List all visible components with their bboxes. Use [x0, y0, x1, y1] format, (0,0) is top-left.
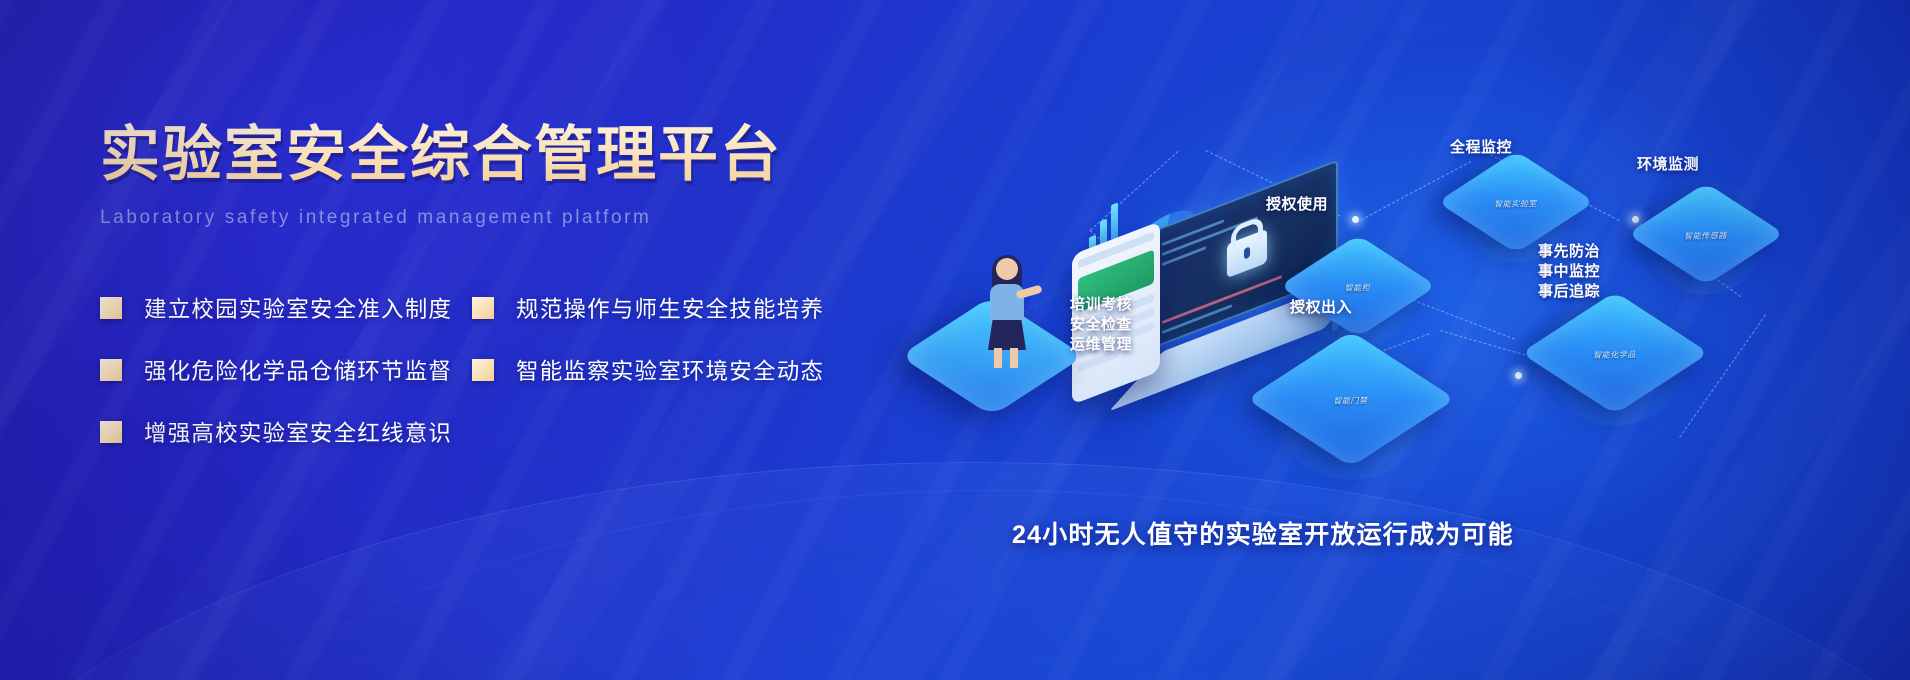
label-authorized-use: 授权使用 — [1266, 195, 1328, 216]
avatar-head — [996, 258, 1018, 280]
list-item: 智能监察实验室环境安全动态 — [472, 339, 824, 401]
list-item-label: 增强高校实验室安全红线意识 — [144, 416, 452, 448]
left-content: 实验室安全综合管理平台 Laboratory safety integrated… — [100, 120, 920, 463]
label-prevention-line1: 事先防治 — [1538, 242, 1600, 263]
tile-caption: 智能门禁 — [1333, 396, 1370, 408]
list-item: 规范操作与师生安全技能培养 — [472, 277, 824, 339]
list-item: 增强高校实验室安全红线意识 — [100, 401, 472, 463]
label-training-line3: 运维管理 — [1070, 335, 1132, 356]
connector-node-dot — [1632, 216, 1639, 223]
lock-icon — [1227, 229, 1267, 278]
list-item-label: 强化危险化学品仓储环节监督 — [144, 354, 452, 386]
bullet-square-icon — [100, 359, 122, 381]
connector-line — [1679, 314, 1766, 437]
feature-list: 建立校园实验室安全准入制度 规范操作与师生安全技能培养 强化危险化学品仓储环节监… — [100, 277, 900, 463]
node-tile-full-monitoring: 智能实验室 — [1470, 156, 1562, 248]
avatar-skirt — [988, 320, 1026, 350]
connector-node-dot — [1515, 372, 1522, 379]
page-subtitle: Laboratory safety integrated management … — [100, 207, 920, 229]
node-tile-authorized-access: 智能门禁 — [1290, 338, 1412, 460]
bullet-square-icon — [100, 297, 122, 319]
list-item-label: 智能监察实验室环境安全动态 — [516, 354, 824, 386]
tile-caption: 智能传感器 — [1683, 230, 1728, 242]
person-avatar — [982, 258, 1036, 366]
banner-root: 实验室安全综合管理平台 Laboratory safety integrated… — [0, 0, 1910, 680]
bottom-tagline: 24小时无人值守的实验室开放运行成为可能 — [1012, 515, 1514, 551]
bullet-square-icon — [472, 297, 494, 319]
label-training-line2: 安全检查 — [1070, 315, 1132, 336]
feature-row: 增强高校实验室安全红线意识 — [100, 401, 900, 463]
feature-row: 强化危险化学品仓储环节监督 智能监察实验室环境安全动态 — [100, 339, 900, 401]
bullet-square-icon — [100, 421, 122, 443]
list-item: 强化危险化学品仓储环节监督 — [100, 339, 472, 401]
connector-node-dot — [1352, 216, 1359, 223]
tile-caption: 智能柜 — [1344, 282, 1372, 293]
tile-caption: 智能实验室 — [1493, 198, 1538, 210]
list-item: 建立校园实验室安全准入制度 — [100, 277, 472, 339]
label-prevention-line2: 事中监控 — [1538, 262, 1600, 283]
node-tile-environment-monitoring: 智能传感器 — [1660, 188, 1752, 280]
label-full-monitoring: 全程监控 — [1450, 138, 1512, 159]
node-tile-prevention: 智能化学品 — [1560, 298, 1670, 408]
page-title: 实验室安全综合管理平台 — [100, 120, 920, 189]
bullet-square-icon — [472, 359, 494, 381]
label-prevention-line3: 事后追踪 — [1538, 282, 1600, 303]
list-item-label: 规范操作与师生安全技能培养 — [516, 292, 824, 324]
feature-row: 建立校园实验室安全准入制度 规范操作与师生安全技能培养 — [100, 277, 900, 339]
label-environment-monitoring: 环境监测 — [1637, 155, 1699, 176]
list-item-label: 建立校园实验室安全准入制度 — [144, 292, 452, 324]
label-training-line1: 培训考核 — [1070, 295, 1132, 316]
tile-caption: 智能化学品 — [1592, 349, 1637, 361]
label-authorized-access: 授权出入 — [1290, 298, 1352, 319]
